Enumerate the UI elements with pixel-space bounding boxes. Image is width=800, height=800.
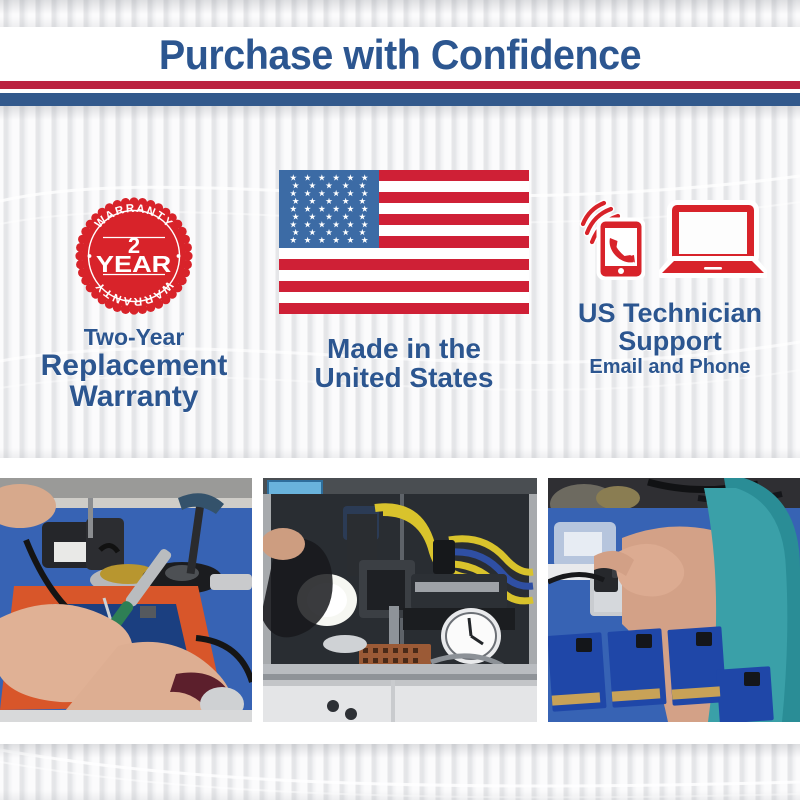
warranty-badge-wrap: WARRANTY WARRANTY 2 YEAR [74, 196, 194, 316]
feature-made-in-usa: Made in the United States [268, 106, 540, 458]
photo-machine [263, 478, 537, 722]
badge-unit: YEAR [96, 252, 171, 278]
warranty-caption: Two-Year Replacement Warranty [41, 326, 228, 412]
warranty-caption-line-3: Warranty [41, 381, 228, 412]
feature-warranty: WARRANTY WARRANTY 2 YEAR Two-Year Replac… [0, 106, 268, 458]
flag-canton [279, 170, 379, 248]
usa-flag-icon [279, 170, 529, 314]
photo-assembly [548, 478, 800, 722]
support-caption: US Technician Support Email and Phone [578, 299, 762, 378]
usa-caption: Made in the United States [315, 334, 494, 392]
usa-caption-line-1: Made in the [315, 334, 494, 363]
support-caption-sub: Email and Phone [578, 357, 762, 378]
feature-support: US Technician Support Email and Phone [540, 106, 800, 458]
laptop-icon [659, 198, 767, 285]
bottom-light-streak [0, 744, 800, 800]
usa-flag-wrap [279, 170, 529, 314]
warranty-caption-line-1: Two-Year [41, 326, 228, 350]
warranty-caption-line-2: Replacement [41, 350, 228, 381]
photo-soldering [0, 478, 252, 722]
support-icons [573, 194, 767, 285]
divider-rule-blue [0, 93, 800, 106]
bottom-texture-strip [0, 744, 800, 800]
support-caption-line-1: US Technician [578, 299, 762, 327]
top-texture-strip [0, 0, 800, 27]
warranty-seal-badge: WARRANTY WARRANTY 2 YEAR [74, 196, 194, 316]
smartphone-signal-icon [573, 194, 645, 285]
page-title: Purchase with Confidence [24, 26, 776, 84]
usa-caption-line-2: United States [315, 363, 494, 392]
photo-row [0, 478, 800, 722]
divider-rule-red [0, 81, 800, 89]
support-caption-line-2: Support [578, 327, 762, 355]
features-row: WARRANTY WARRANTY 2 YEAR Two-Year Replac… [0, 106, 800, 458]
